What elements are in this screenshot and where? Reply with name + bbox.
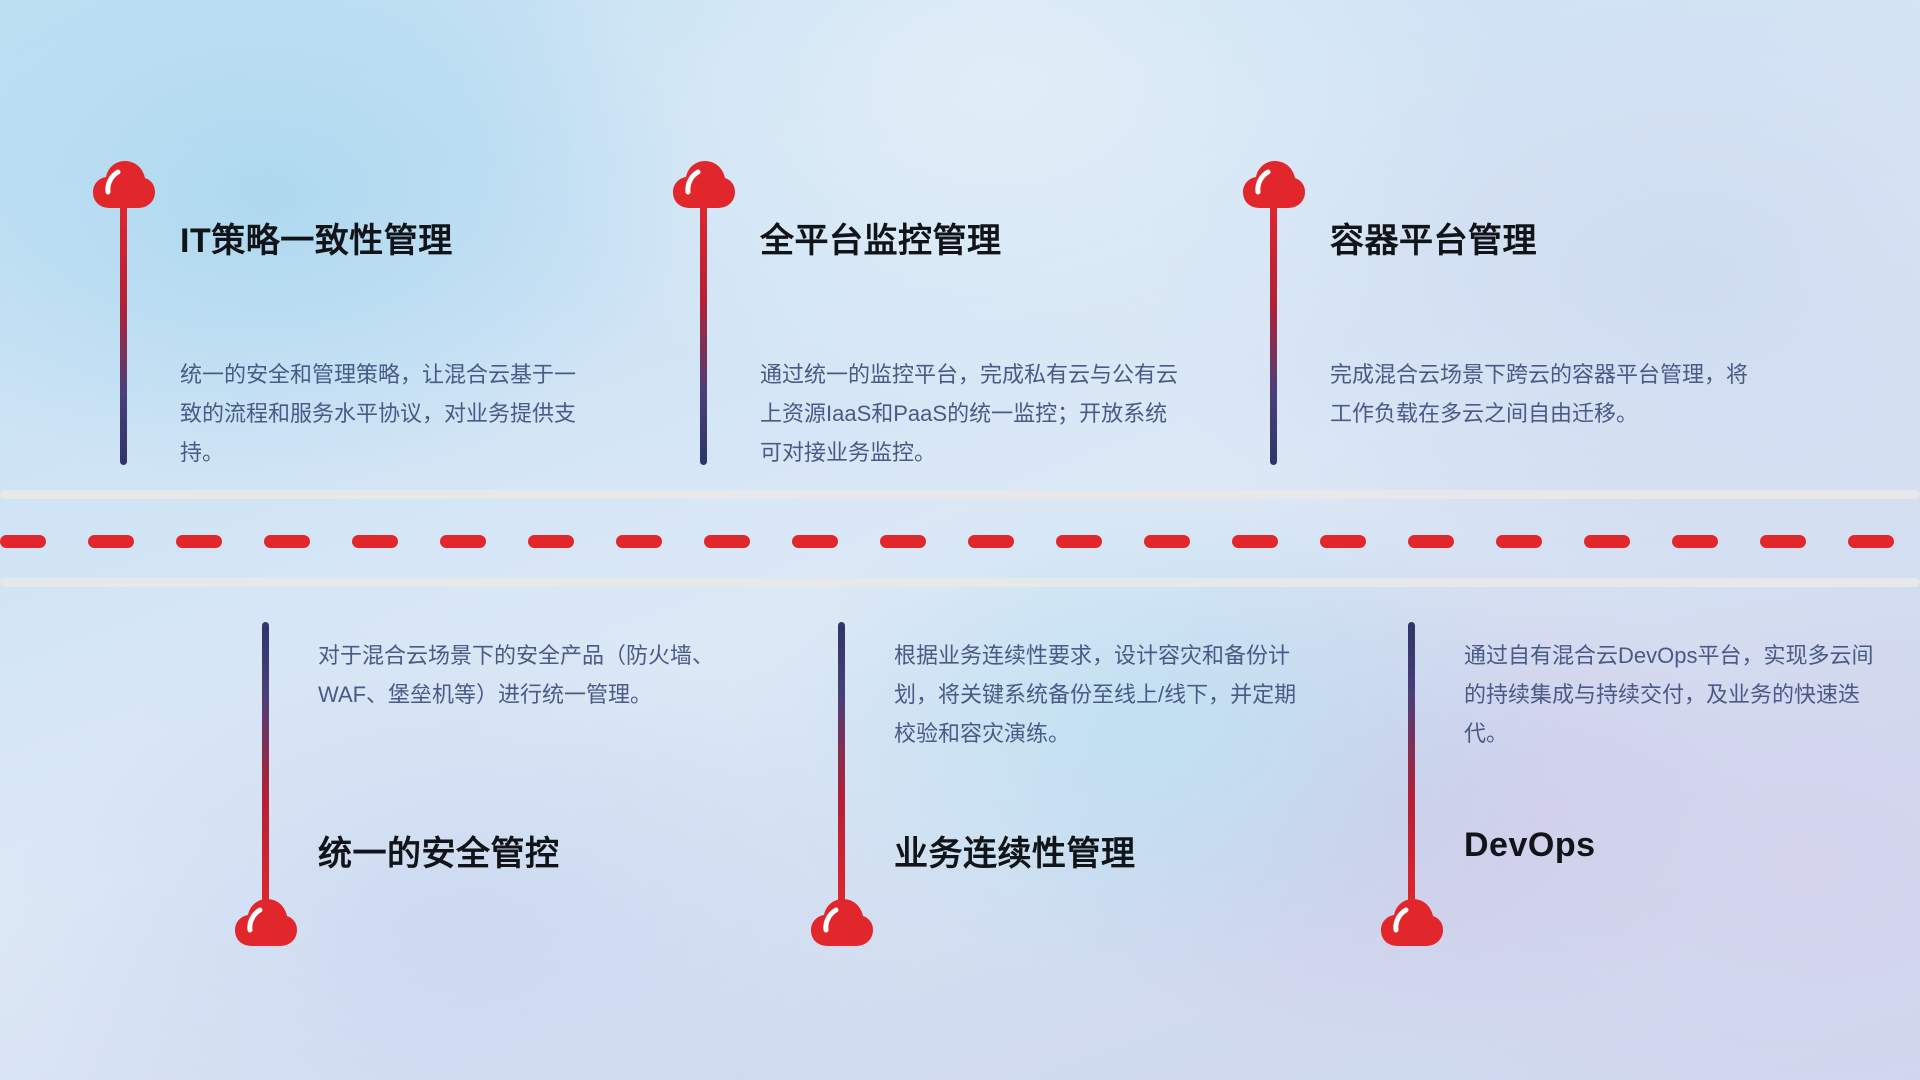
dash-segment bbox=[264, 535, 310, 548]
dash-segment bbox=[1584, 535, 1630, 548]
dash-segment bbox=[528, 535, 574, 548]
dash-segment bbox=[1848, 535, 1894, 548]
divider-bar-top bbox=[0, 490, 1920, 499]
cloud-icon bbox=[1380, 898, 1444, 950]
bottom-body-2: 根据业务连续性要求，设计容灾和备份计划，将关键系统备份至线上/线下，并定期校验和… bbox=[894, 636, 1314, 753]
bottom-heading-3: DevOps bbox=[1464, 826, 1596, 865]
pin-stem bbox=[700, 205, 707, 465]
cloud-icon bbox=[810, 898, 874, 950]
dash-segment bbox=[176, 535, 222, 548]
divider bbox=[0, 490, 1920, 600]
dash-segment bbox=[968, 535, 1014, 548]
pin-stem bbox=[262, 622, 269, 904]
dash-segment bbox=[1320, 535, 1366, 548]
dash-segment bbox=[1144, 535, 1190, 548]
top-heading-1: IT策略一致性管理 bbox=[180, 213, 453, 262]
bottom-body-1: 对于混合云场景下的安全产品（防火墙、WAF、堡垒机等）进行统一管理。 bbox=[318, 636, 718, 714]
dash-segment bbox=[88, 535, 134, 548]
dash-segment bbox=[1760, 535, 1806, 548]
dash-segment bbox=[352, 535, 398, 548]
bottom-heading-1: 统一的安全管控 bbox=[318, 826, 560, 875]
top-heading-2: 全平台监控管理 bbox=[760, 213, 1002, 262]
dash-segment bbox=[704, 535, 750, 548]
dash-segment bbox=[792, 535, 838, 548]
dash-segment bbox=[1232, 535, 1278, 548]
dash-segment bbox=[1056, 535, 1102, 548]
bottom-body-3: 通过自有混合云DevOps平台，实现多云间的持续集成与持续交付，及业务的快速迭代… bbox=[1464, 636, 1884, 753]
dash-segment bbox=[1408, 535, 1454, 548]
dash-segment bbox=[616, 535, 662, 548]
divider-bar-bottom bbox=[0, 578, 1920, 587]
top-body-2: 通过统一的监控平台，完成私有云与公有云上资源IaaS和PaaS的统一监控；开放系… bbox=[760, 355, 1180, 472]
pin-stem bbox=[1270, 205, 1277, 465]
pin-stem bbox=[838, 622, 845, 904]
top-body-1: 统一的安全和管理策略，让混合云基于一致的流程和服务水平协议，对业务提供支持。 bbox=[180, 355, 580, 472]
dash-segment bbox=[440, 535, 486, 548]
divider-dashed-line bbox=[0, 534, 1920, 548]
dash-segment bbox=[0, 535, 46, 548]
dash-segment bbox=[880, 535, 926, 548]
infographic-canvas: IT策略一致性管理 统一的安全和管理策略，让混合云基于一致的流程和服务水平协议，… bbox=[0, 0, 1920, 1080]
pin-stem bbox=[1408, 622, 1415, 904]
top-heading-3: 容器平台管理 bbox=[1330, 213, 1537, 262]
pin-stem bbox=[120, 205, 127, 465]
dash-segment bbox=[1496, 535, 1542, 548]
top-body-3: 完成混合云场景下跨云的容器平台管理，将工作负载在多云之间自由迁移。 bbox=[1330, 355, 1750, 433]
dash-segment bbox=[1672, 535, 1718, 548]
cloud-icon bbox=[234, 898, 298, 950]
bottom-heading-2: 业务连续性管理 bbox=[894, 826, 1136, 875]
